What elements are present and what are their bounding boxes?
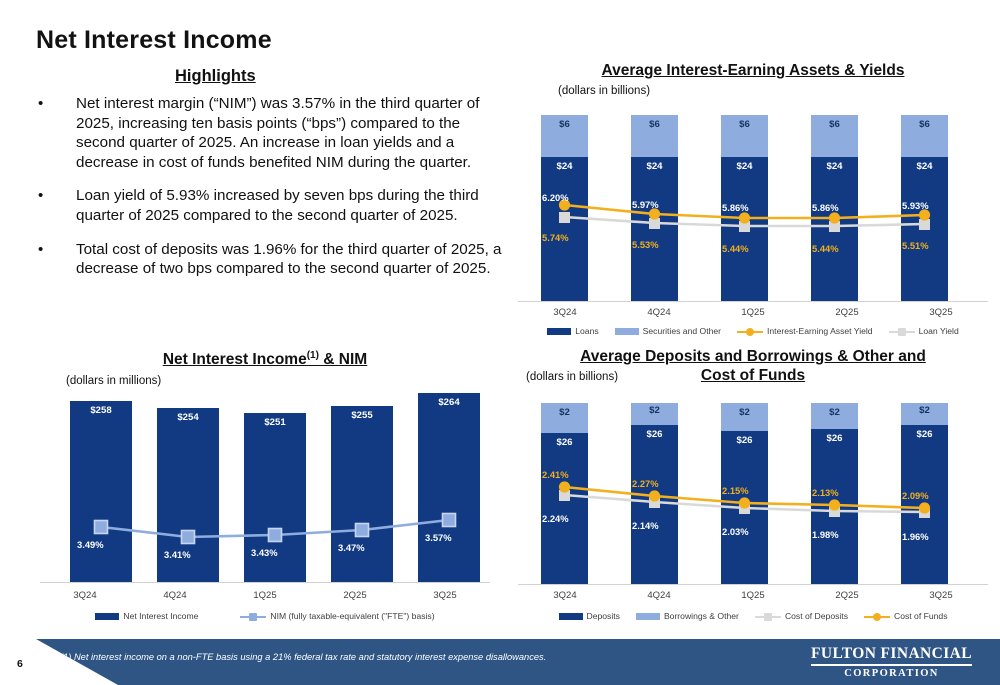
data-label-nim: 3.43% [251,547,278,558]
legend-label: Cost of Funds [894,611,948,621]
data-label-loan-yield: 5.86% [722,202,749,213]
data-label-nim: 3.41% [164,549,191,560]
loan-yield-marker [649,218,660,229]
company-logo: FULTON FINANCIAL CORPORATION [811,645,972,679]
legend-swatch-icon [95,613,119,620]
legend-label: Loan Yield [919,326,959,336]
slide-footer: 6 (1) Net interest income on a non-FTE b… [0,639,1000,685]
legend-item-nim[interactable]: NIM (fully taxable-equivalent ("FTE") ba… [240,611,434,621]
cost-of-funds-marker [559,481,570,492]
chart-deposits-borrowings-cost-of-funds: Average Deposits and Borrowings & Other … [518,345,988,630]
bullet-text: Loan yield of 5.93% increased by seven b… [76,186,504,225]
x-axis-tick: 1Q25 [706,590,800,601]
footnote-text: (1) Net interest income on a non-FTE bas… [60,652,546,662]
chart-title: Net Interest Income(1) & NIM [40,350,490,369]
legend-label: Cost of Deposits [785,611,848,621]
legend-line-marker-icon [755,612,781,621]
asset-yield-marker [829,212,840,223]
data-label-loan-yield: 5.86% [812,202,839,213]
data-label-cost-of-funds: 2.09% [902,490,929,501]
legend-item-securities[interactable]: Securities and Other [615,326,721,336]
data-label-cost-of-funds: 2.15% [722,485,749,496]
x-axis-tick: 1Q25 [706,307,800,318]
legend-item-deposits[interactable]: Deposits [559,611,620,621]
chart-subtitle: (dollars in billions) [526,371,618,383]
bullet-text: Net interest margin (“NIM”) was 3.57% in… [76,94,504,172]
chart-plot-area: $6 $24 $6 $24 $6 $24 $6 $ [518,107,988,301]
x-axis-labels: 3Q24 4Q24 1Q25 2Q25 3Q25 [40,590,490,601]
legend-item-borrowings[interactable]: Borrowings & Other [636,611,739,621]
x-axis-labels: 3Q24 4Q24 1Q25 2Q25 3Q25 [518,307,988,318]
list-item: • Total cost of deposits was 1.96% for t… [34,240,504,279]
legend-item-cost-of-deposits[interactable]: Cost of Deposits [755,611,848,621]
data-label-loan-yield: 5.93% [902,200,929,211]
x-axis [518,301,988,302]
x-axis-tick: 3Q24 [40,590,130,601]
data-label-cost-of-funds: 2.27% [632,478,659,489]
x-axis-tick: 3Q25 [894,307,988,318]
x-axis-tick: 4Q24 [612,590,706,601]
chart-title-line1: Average Deposits and Borrowings & Other … [518,348,988,366]
data-label-cost-of-deposits: 1.98% [812,529,839,540]
asset-yield-marker [919,209,930,220]
data-label-asset-yield: 5.74% [542,232,569,243]
data-label-loan-yield: 6.20% [542,192,569,203]
highlights-bullet-list: • Net interest margin (“NIM”) was 3.57% … [34,94,504,293]
asset-yield-marker [739,212,750,223]
data-label-cost-of-deposits: 1.96% [902,531,929,542]
logo-divider [811,664,972,666]
x-axis-tick: 3Q24 [518,590,612,601]
legend-label: Borrowings & Other [664,611,739,621]
x-axis-tick: 2Q25 [800,590,894,601]
bullet-marker: • [34,240,76,279]
x-axis-tick: 2Q25 [800,307,894,318]
logo-primary-text: FULTON FINANCIAL [811,645,972,663]
loan-yield-marker [559,212,570,223]
chart-subtitle: (dollars in millions) [66,375,161,387]
legend-line-marker-icon [737,327,763,336]
legend-line-marker-icon [864,612,890,621]
x-axis-tick: 1Q25 [220,590,310,601]
chart-plot-area: $258 $254 $251 $255 $264 3.49 [40,393,490,582]
legend-line-marker-icon [889,327,915,336]
x-axis-tick: 3Q25 [894,590,988,601]
x-axis-labels: 3Q24 4Q24 1Q25 2Q25 3Q25 [518,590,988,601]
legend-label: Interest-Earning Asset Yield [767,326,873,336]
cost-of-funds-marker [919,502,930,513]
bullet-marker: • [34,94,76,172]
x-axis-tick: 4Q24 [612,307,706,318]
cost-of-funds-marker [829,499,840,510]
legend-label: Deposits [587,611,620,621]
logo-secondary-text: CORPORATION [811,668,972,679]
chart-average-interest-earning-assets: Average Interest-Earning Assets & Yields… [518,62,988,342]
legend-swatch-icon [559,613,583,620]
legend-item-cost-of-funds[interactable]: Cost of Funds [864,611,948,621]
legend-swatch-icon [636,613,660,620]
asset-yield-marker [649,208,660,219]
legend-item-loan-yield[interactable]: Loan Yield [889,326,959,336]
legend-item-asset-yield[interactable]: Interest-Earning Asset Yield [737,326,873,336]
bullet-marker: • [34,186,76,225]
nim-marker [356,524,369,537]
data-label-cost-of-funds: 2.41% [542,469,569,480]
legend-swatch-icon [547,328,571,335]
cost-of-funds-marker [739,497,750,508]
nim-marker [443,514,456,527]
x-axis-tick: 3Q24 [518,307,612,318]
x-axis-tick: 4Q24 [130,590,220,601]
data-label-cost-of-deposits: 2.14% [632,520,659,531]
legend-label: Securities and Other [643,326,721,336]
chart-subtitle: (dollars in billions) [558,85,650,97]
data-label-nim: 3.49% [77,539,104,550]
chart-legend: Deposits Borrowings & Other Cost of Depo… [518,611,988,621]
legend-item-loans[interactable]: Loans [547,326,598,336]
list-item: • Net interest margin (“NIM”) was 3.57% … [34,94,504,172]
nim-marker [95,521,108,534]
highlights-heading: Highlights [175,67,256,86]
chart-net-interest-income-nim: Net Interest Income(1) & NIM (dollars in… [40,345,490,630]
x-axis-tick: 2Q25 [310,590,400,601]
data-label-nim: 3.47% [338,542,365,553]
bullet-text: Total cost of deposits was 1.96% for the… [76,240,504,279]
chart-legend: Net Interest Income NIM (fully taxable-e… [40,611,490,621]
legend-line-marker-icon [240,612,266,621]
page-number: 6 [17,658,23,670]
list-item: • Loan yield of 5.93% increased by seven… [34,186,504,225]
data-label-asset-yield: 5.53% [632,239,659,250]
data-label-cost-of-funds: 2.13% [812,487,839,498]
nim-marker [182,531,195,544]
legend-label: Net Interest Income [123,611,198,621]
data-label-nim: 3.57% [425,532,452,543]
slide: Net Interest Income Highlights • Net int… [0,0,1000,685]
data-label-cost-of-deposits: 2.03% [722,526,749,537]
legend-label: Loans [575,326,598,336]
legend-item-net-interest-income[interactable]: Net Interest Income [95,611,198,621]
chart-title: Average Interest-Earning Assets & Yields [518,62,988,80]
x-axis-tick: 3Q25 [400,590,490,601]
data-label-asset-yield: 5.44% [722,243,749,254]
chart-legend: Loans Securities and Other Interest-Earn… [518,326,988,336]
cost-of-funds-marker [649,490,660,501]
data-label-cost-of-deposits: 2.24% [542,513,569,524]
loan-yield-marker [919,219,930,230]
legend-label: NIM (fully taxable-equivalent ("FTE") ba… [270,611,434,621]
nim-marker [269,529,282,542]
x-axis [518,584,988,585]
chart-plot-area: $2 $26 $2 $26 $2 $26 $2 $ [518,395,988,584]
data-label-loan-yield: 5.97% [632,199,659,210]
data-label-asset-yield: 5.44% [812,243,839,254]
legend-swatch-icon [615,328,639,335]
x-axis [40,582,490,583]
page-title: Net Interest Income [36,26,272,55]
data-label-asset-yield: 5.51% [902,240,929,251]
